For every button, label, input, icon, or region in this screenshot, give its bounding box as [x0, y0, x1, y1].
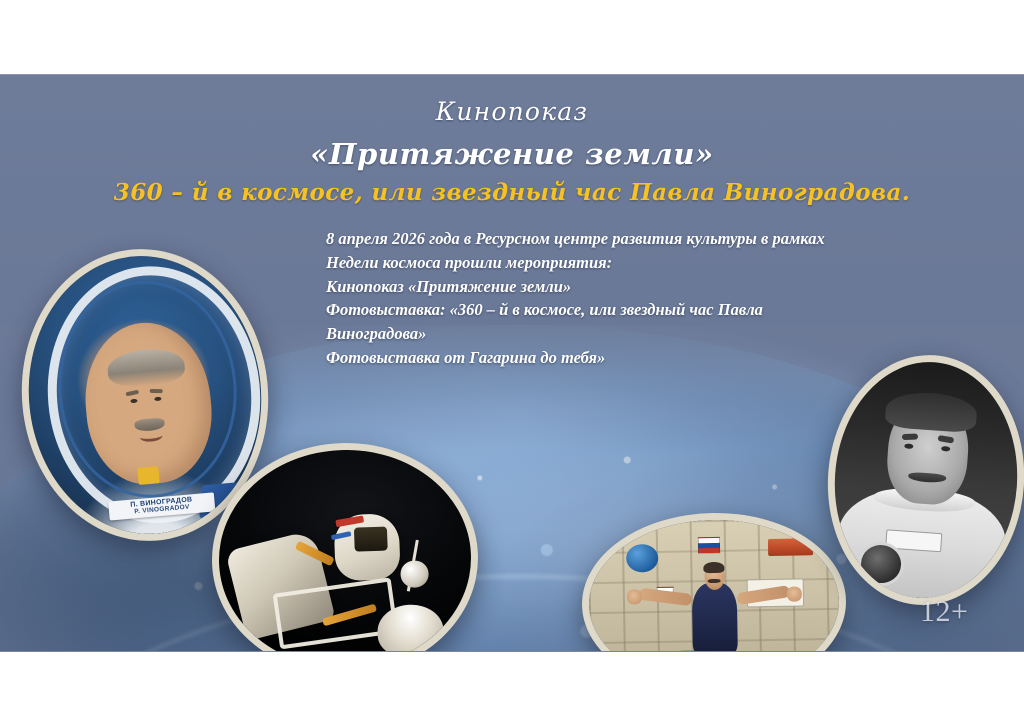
- description-line-1: 8 апреля 2026 года в Ресурсном центре ра…: [326, 227, 850, 275]
- bw-eyebrow-left: [902, 434, 919, 440]
- photo-inner: [827, 356, 1024, 604]
- photo-inner: [215, 446, 474, 652]
- bw-eye-right: [941, 446, 950, 452]
- age-rating-badge: 12+: [920, 595, 968, 629]
- title-kinopokaz: Кинопоказ: [0, 97, 1024, 126]
- title-film-name: «Притяжение земли»: [0, 137, 1024, 171]
- description-line-2: Кинопоказ «Притяжение земли»: [326, 275, 850, 299]
- event-description: 8 апреля 2026 года в Ресурсном центре ра…: [326, 227, 850, 370]
- title-exhibition-name: 360 – й в космосе, или звездный час Павл…: [0, 179, 1024, 206]
- photo-oval-spacewalk: [208, 438, 482, 652]
- cosmonaut-hair: [106, 347, 186, 389]
- eyebrow-left: [126, 390, 139, 397]
- cosmonaut-hand-right: [786, 587, 801, 602]
- cosmonaut-torso: [691, 583, 737, 652]
- poster-page: П. ВИНОГРАДОВ P. VINOGRADOV: [0, 0, 1024, 724]
- description-line-4: Фотовыставка от Гагарина до тебя»: [326, 346, 850, 370]
- photo-inner: [588, 518, 841, 652]
- iss-red-equipment: [768, 538, 813, 555]
- suit-yellow-latch: [137, 466, 159, 484]
- eye-right: [154, 397, 161, 402]
- eva-visor: [354, 527, 388, 552]
- cosmonaut-hand-left: [626, 589, 641, 604]
- photo-oval-iss-module: [580, 511, 847, 652]
- eye-left: [130, 399, 137, 404]
- smile: [139, 429, 162, 442]
- cosmonaut-hair-iss: [703, 561, 724, 573]
- slide-canvas: П. ВИНОГРАДОВ P. VINOGRADOV: [0, 74, 1024, 652]
- photo-oval-portrait-bw: [820, 348, 1024, 611]
- russian-flag-icon: [698, 536, 720, 553]
- description-line-3: Фотовыставка: «360 – й в космосе, или зв…: [326, 298, 850, 346]
- cosmonaut-moustache-iss: [708, 579, 721, 584]
- eyebrow-right: [149, 389, 162, 393]
